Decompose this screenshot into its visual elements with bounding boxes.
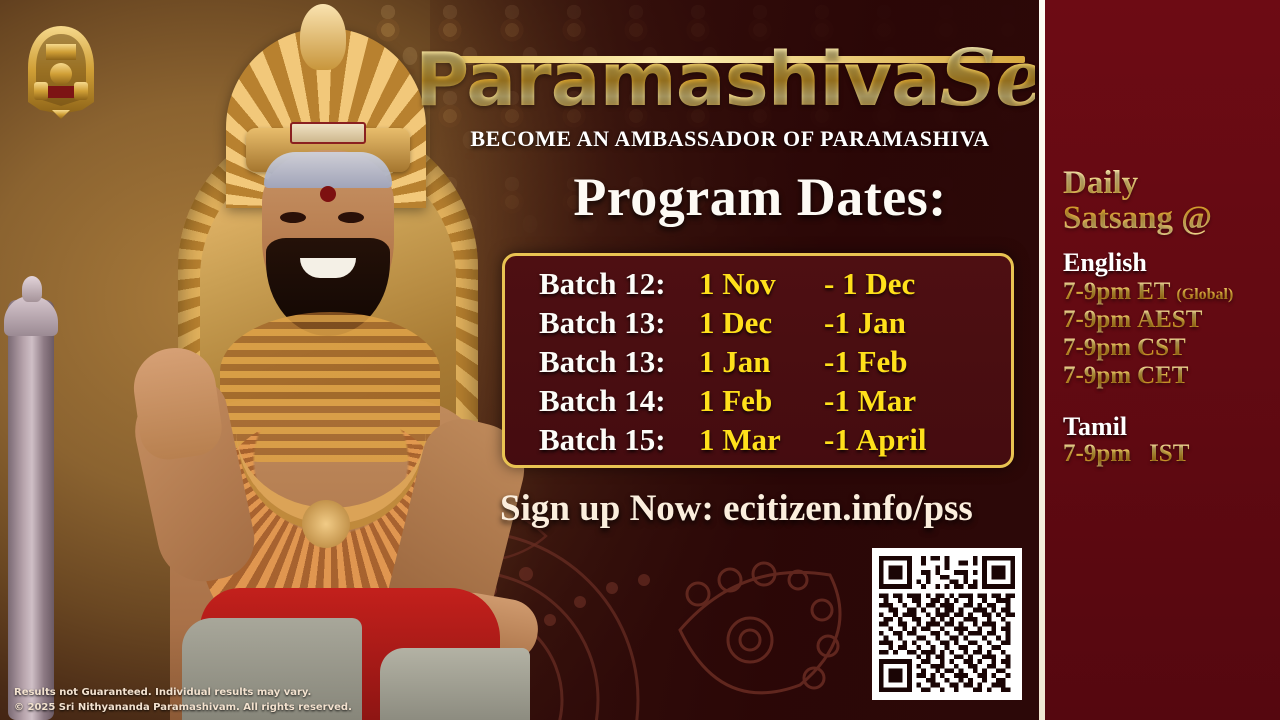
time-value: 7-9pm [1063, 334, 1131, 361]
time-value: 7-9pm [1063, 278, 1131, 305]
silver-pillar [8, 300, 54, 720]
timezone-label: AEST [1137, 306, 1202, 333]
batch-start-date: 1 Feb [699, 381, 824, 420]
batch-label: Batch 13: [539, 303, 699, 342]
satsang-panel: Daily Satsang @ English 7-9pmET(Global) … [1045, 0, 1280, 720]
batch-start-date: 1 Jan [699, 342, 824, 381]
program-dates-heading: Program Dates: [500, 166, 1020, 228]
table-row: Batch 14: 1 Feb -1 Mar [505, 381, 1011, 420]
brand-title-text: ParamashivaSena [415, 40, 1035, 118]
legal-disclaimer: Results not Guaranteed. Individual resul… [14, 686, 434, 715]
batch-label: Batch 13: [539, 342, 699, 381]
time-value: 7-9pm [1063, 440, 1131, 467]
timezone-label: CST [1137, 334, 1186, 361]
qr-code-icon[interactable] [872, 548, 1022, 700]
copyright-line: © 2025 Sri Nithyananda Paramashivam. All… [14, 701, 434, 716]
satsang-heading-line2: Satsang @ [1063, 201, 1273, 236]
batch-label: Batch 12: [539, 264, 699, 303]
deity-emblem-icon [22, 24, 100, 120]
satsang-time-et: 7-9pmET(Global) [1063, 278, 1278, 306]
timezone-label: IST [1149, 440, 1189, 467]
batch-start-date: 1 Mar [699, 420, 824, 459]
brand-tagline: BECOME AN AMBASSADOR OF PARAMASHIVA [420, 126, 1040, 152]
batch-label: Batch 15: [539, 420, 699, 459]
time-value: 7-9pm [1063, 306, 1131, 333]
disclaimer-line-1: Results not Guaranteed. Individual resul… [14, 686, 434, 701]
satsang-time-cst: 7-9pmCST [1063, 334, 1278, 362]
forehead-mark [290, 122, 366, 144]
satsang-heading-line1: Daily [1063, 166, 1273, 201]
batch-end-date: -1 Mar [824, 381, 916, 420]
batch-start-date: 1 Nov [699, 264, 824, 303]
timezone-label: CET [1137, 362, 1188, 389]
satsang-time-cet: 7-9pmCET [1063, 362, 1278, 390]
time-value: 7-9pm [1063, 362, 1131, 389]
timezone-label: ET [1137, 278, 1170, 305]
crown-finial [300, 4, 346, 70]
eye-right [338, 212, 364, 223]
batch-end-date: - 1 Dec [824, 264, 915, 303]
language-label-tamil: Tamil [1063, 412, 1273, 442]
pillar-finial [22, 276, 42, 302]
brand-title-part1: Paramashiva [415, 37, 940, 123]
table-row: Batch 12: 1 Nov - 1 Dec [505, 264, 1011, 303]
language-label-english: English [1063, 248, 1273, 278]
timezone-note: (Global) [1176, 286, 1233, 303]
program-dates-box: Batch 12: 1 Nov - 1 Dec Batch 13: 1 Dec … [502, 253, 1014, 468]
table-row: Batch 15: 1 Mar -1 April [505, 420, 1011, 459]
batch-label: Batch 14: [539, 381, 699, 420]
batch-end-date: -1 Jan [824, 303, 906, 342]
satsang-time-aest: 7-9pmAEST [1063, 306, 1278, 334]
table-row: Batch 13: 1 Jan -1 Feb [505, 342, 1011, 381]
batch-start-date: 1 Dec [699, 303, 824, 342]
brand-title: ParamashivaSena [415, 26, 1035, 122]
batch-end-date: -1 April [824, 420, 926, 459]
batch-end-date: -1 Feb [824, 342, 908, 381]
signup-call-to-action[interactable]: Sign up Now: ecitizen.info/pss [500, 487, 1040, 530]
bindi-dot [320, 186, 336, 202]
forehead-ash-mark [264, 152, 392, 188]
table-row: Batch 13: 1 Dec -1 Jan [505, 303, 1011, 342]
pendant [302, 500, 350, 548]
satsang-heading: Daily Satsang @ [1063, 166, 1273, 236]
eye-left [280, 212, 306, 223]
satsang-time-ist: 7-9pmIST [1063, 440, 1278, 468]
promotional-poster: ParamashivaSena BECOME AN AMBASSADOR OF … [0, 0, 1280, 720]
